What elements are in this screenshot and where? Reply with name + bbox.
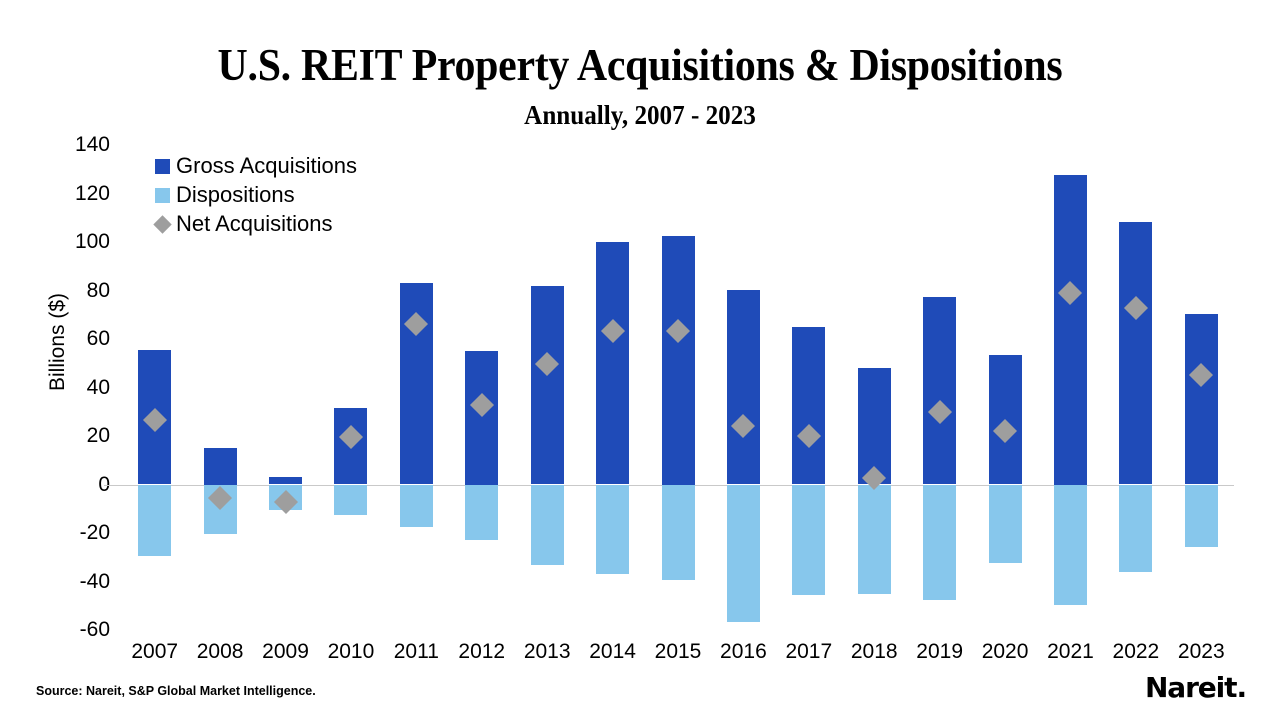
- legend-item[interactable]: Dispositions: [155, 184, 357, 206]
- bar-gross-acquisitions: [662, 236, 695, 485]
- y-axis-tick: 40: [66, 376, 122, 400]
- bar-dispositions: [596, 485, 629, 574]
- y-axis-tick: 100: [66, 230, 122, 254]
- x-axis-tick: 2014: [589, 640, 636, 664]
- x-axis-tick: 2021: [1047, 640, 1094, 664]
- y-axis-tick: 60: [66, 327, 122, 351]
- bar-dispositions: [1054, 485, 1087, 605]
- bar-gross-acquisitions: [596, 242, 629, 484]
- bar-gross-acquisitions: [269, 477, 302, 484]
- x-axis-tick: 2017: [785, 640, 832, 664]
- legend-item[interactable]: Net Acquisitions: [155, 213, 357, 235]
- y-axis-tick: 140: [66, 133, 122, 157]
- page-subtitle: Annually, 2007 - 2023: [45, 98, 1235, 132]
- bar-gross-acquisitions: [1185, 314, 1218, 485]
- y-axis-tick: 120: [66, 182, 122, 206]
- bar-dispositions: [400, 485, 433, 527]
- legend-square-icon: [155, 188, 170, 203]
- legend-diamond-icon: [153, 215, 171, 233]
- legend-item[interactable]: Gross Acquisitions: [155, 155, 357, 177]
- x-axis-tick: 2020: [982, 640, 1029, 664]
- x-axis-tick: 2010: [328, 640, 375, 664]
- chart-legend: Gross AcquisitionsDispositionsNet Acquis…: [155, 155, 357, 235]
- nareit-logo: Nareit.: [1145, 671, 1246, 704]
- page-title: U.S. REIT Property Acquisitions & Dispos…: [45, 38, 1235, 92]
- x-axis-tick: 2008: [197, 640, 244, 664]
- bar-dispositions: [923, 485, 956, 601]
- x-axis-tick: 2019: [916, 640, 963, 664]
- bar-gross-acquisitions: [531, 286, 564, 485]
- x-axis-tick: 2012: [458, 640, 505, 664]
- y-axis-tick: -20: [66, 521, 122, 545]
- x-axis-tick: 2023: [1178, 640, 1225, 664]
- y-axis-tick: 20: [66, 424, 122, 448]
- bar-gross-acquisitions: [727, 290, 760, 484]
- chart-page: U.S. REIT Property Acquisitions & Dispos…: [0, 0, 1280, 720]
- y-axis-tick: 80: [66, 279, 122, 303]
- bar-dispositions: [138, 485, 171, 556]
- bar-dispositions: [989, 485, 1022, 564]
- x-axis-tick: 2018: [851, 640, 898, 664]
- bar-gross-acquisitions: [923, 297, 956, 484]
- bar-dispositions: [531, 485, 564, 566]
- bar-dispositions: [1119, 485, 1152, 572]
- y-axis-tick: -40: [66, 570, 122, 594]
- bar-dispositions: [334, 485, 367, 516]
- x-axis-tick: 2011: [394, 640, 439, 664]
- legend-item-label: Net Acquisitions: [176, 213, 333, 235]
- source-note: Source: Nareit, S&P Global Market Intell…: [36, 684, 316, 698]
- bar-gross-acquisitions: [1119, 222, 1152, 485]
- x-axis-tick: 2016: [720, 640, 767, 664]
- legend-item-label: Dispositions: [176, 184, 295, 206]
- x-axis-tick: 2013: [524, 640, 571, 664]
- bar-gross-acquisitions: [792, 327, 825, 484]
- bar-dispositions: [465, 485, 498, 541]
- x-axis-tick: 2015: [655, 640, 702, 664]
- legend-square-icon: [155, 159, 170, 174]
- y-axis-tick: -60: [66, 618, 122, 642]
- bar-dispositions: [1185, 485, 1218, 547]
- bar-dispositions: [792, 485, 825, 595]
- bar-dispositions: [662, 485, 695, 581]
- legend-item-label: Gross Acquisitions: [176, 155, 357, 177]
- bar-gross-acquisitions: [204, 448, 237, 484]
- x-axis-tick: 2009: [262, 640, 309, 664]
- bar-dispositions: [858, 485, 891, 595]
- bar-dispositions: [727, 485, 760, 622]
- bar-gross-acquisitions: [1054, 175, 1087, 484]
- bar-gross-acquisitions: [465, 351, 498, 484]
- x-axis-tick: 2007: [131, 640, 178, 664]
- x-axis-tick: 2022: [1113, 640, 1160, 664]
